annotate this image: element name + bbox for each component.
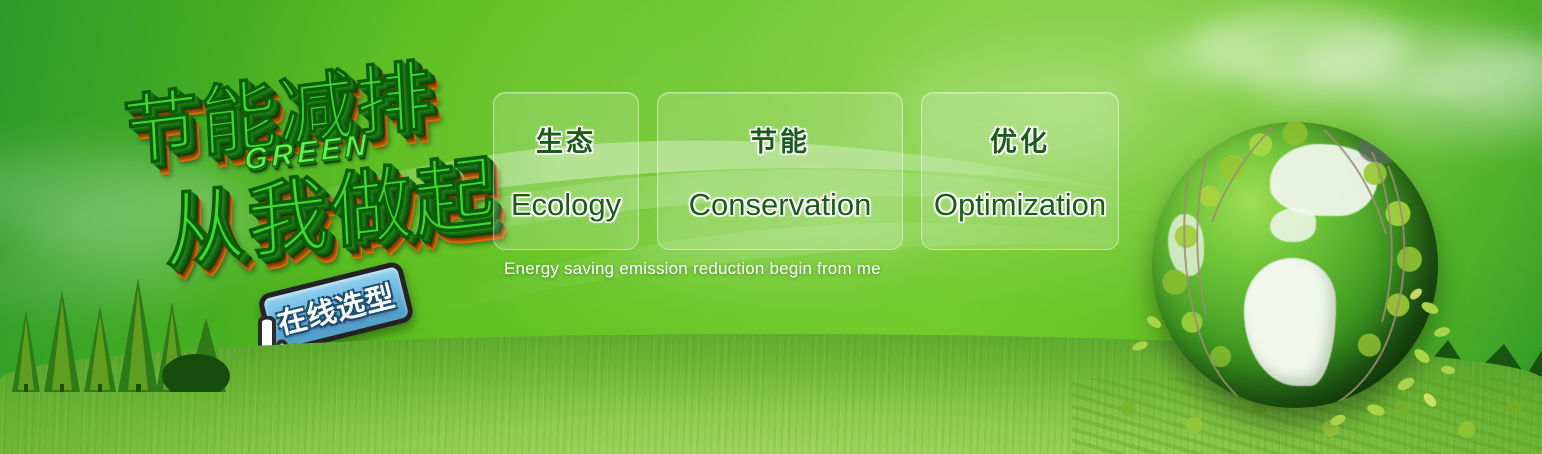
feature-card-title-cn: 生态 xyxy=(536,120,596,159)
falling-leaves-icon xyxy=(1130,108,1460,438)
leafy-earth-globe-icon xyxy=(1130,108,1460,438)
conifer-tree-group xyxy=(0,272,240,392)
feature-card-title-cn: 节能 xyxy=(750,120,810,159)
feature-card-title-en: Optimization xyxy=(934,187,1106,223)
cloud-icon xyxy=(1190,6,1410,84)
feature-card-conservation[interactable]: 节能 Conservation xyxy=(657,92,903,250)
feature-card-list: 生态 Ecology 节能 Conservation 优化 Optimizati… xyxy=(493,92,1119,250)
feature-card-title-cn: 优化 xyxy=(990,120,1050,159)
feature-card-title-en: Conservation xyxy=(689,187,872,223)
feature-card-title-en: Ecology xyxy=(511,187,621,223)
cloud-icon xyxy=(1420,52,1542,112)
hero-title-3d: 节能减排 从我做起 GREEN xyxy=(96,40,496,270)
feature-card-ecology[interactable]: 生态 Ecology xyxy=(493,92,639,250)
cloud-icon xyxy=(1250,58,1440,114)
cloud-icon xyxy=(1300,26,1542,96)
eco-green-banner: 节能减排 从我做起 GREEN 在线选型 生态 Ecology 节能 Conse… xyxy=(0,0,1542,454)
cloud-icon xyxy=(1140,34,1280,86)
feature-card-optimization[interactable]: 优化 Optimization xyxy=(921,92,1119,250)
banner-tagline: Energy saving emission reduction begin f… xyxy=(504,259,881,279)
